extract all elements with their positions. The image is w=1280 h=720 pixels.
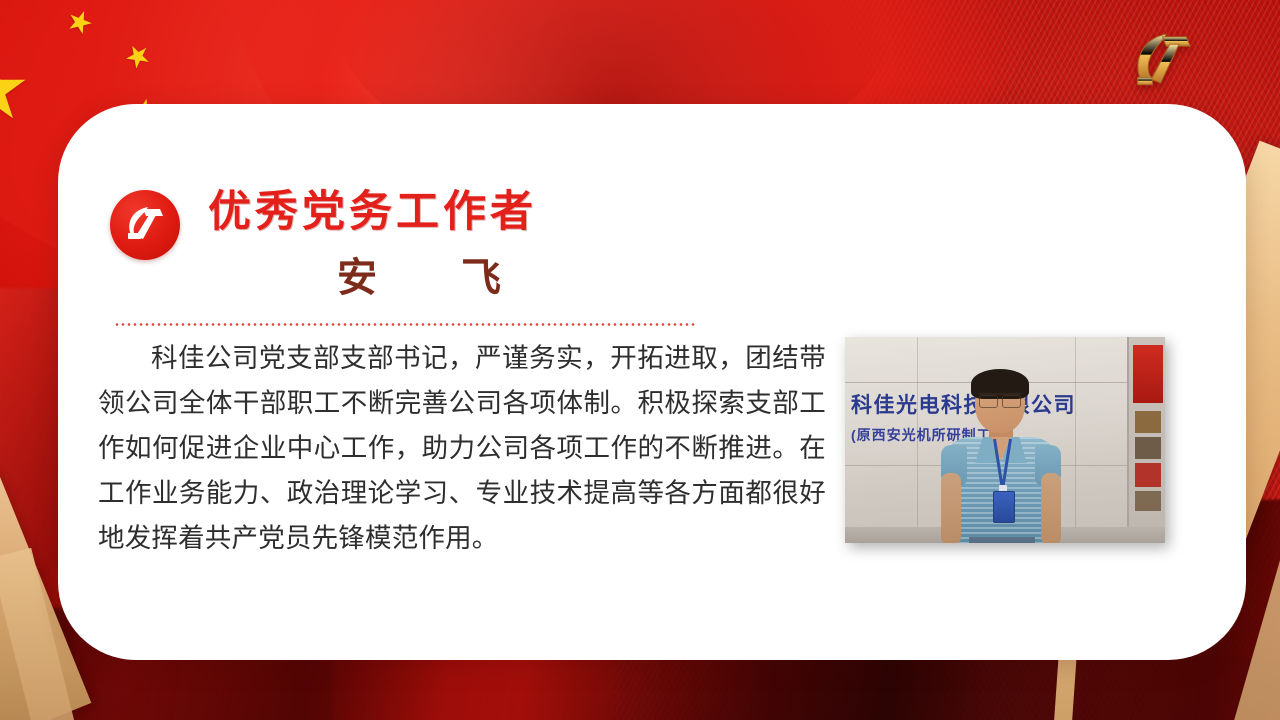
photo-board-panel-3 xyxy=(1135,463,1161,487)
title-group: 优秀党务工作者 安 飞 xyxy=(208,190,537,303)
photo-person-arm-right xyxy=(1041,473,1061,543)
hammer-sickle-glyph xyxy=(121,201,169,249)
photo-board-panel-4 xyxy=(1135,491,1161,511)
photo-image: 科佳光电科技有限公司 (原西安光机所研制工厂) xyxy=(845,337,1165,543)
photo-person-trousers xyxy=(969,537,1035,543)
award-header: 优秀党务工作者 安 飞 xyxy=(110,190,537,303)
biography-text: 科佳公司党支部支部书记，严谨务实，开拓进取，团结带领公司全体干部职工不断完善公司… xyxy=(98,336,826,561)
slide-root: ★ ★ ★ ★ ★ xyxy=(0,0,1280,720)
content-card: 优秀党务工作者 安 飞 科佳公司党支部支部书记，严谨务实，开拓进取，团结带领公司… xyxy=(58,104,1246,660)
photo-person-glasses xyxy=(979,393,1021,406)
photo-person-arm-left xyxy=(941,473,961,543)
photo-board-banner xyxy=(1133,345,1163,403)
photo-board-panel-2 xyxy=(1135,437,1161,459)
dotted-divider xyxy=(114,323,696,326)
photo-notice-board xyxy=(1127,337,1165,543)
photo-person-id-badge xyxy=(993,491,1015,523)
photo-board-panel-1 xyxy=(1135,411,1161,433)
person-photo: 科佳光电科技有限公司 (原西安光机所研制工厂) xyxy=(845,337,1165,543)
party-badge-icon xyxy=(110,190,180,260)
award-title: 优秀党务工作者 xyxy=(208,190,537,235)
photo-person-figure xyxy=(943,373,1059,543)
person-name: 安 飞 xyxy=(208,245,537,303)
photo-wall-seam-2 xyxy=(1075,337,1076,543)
